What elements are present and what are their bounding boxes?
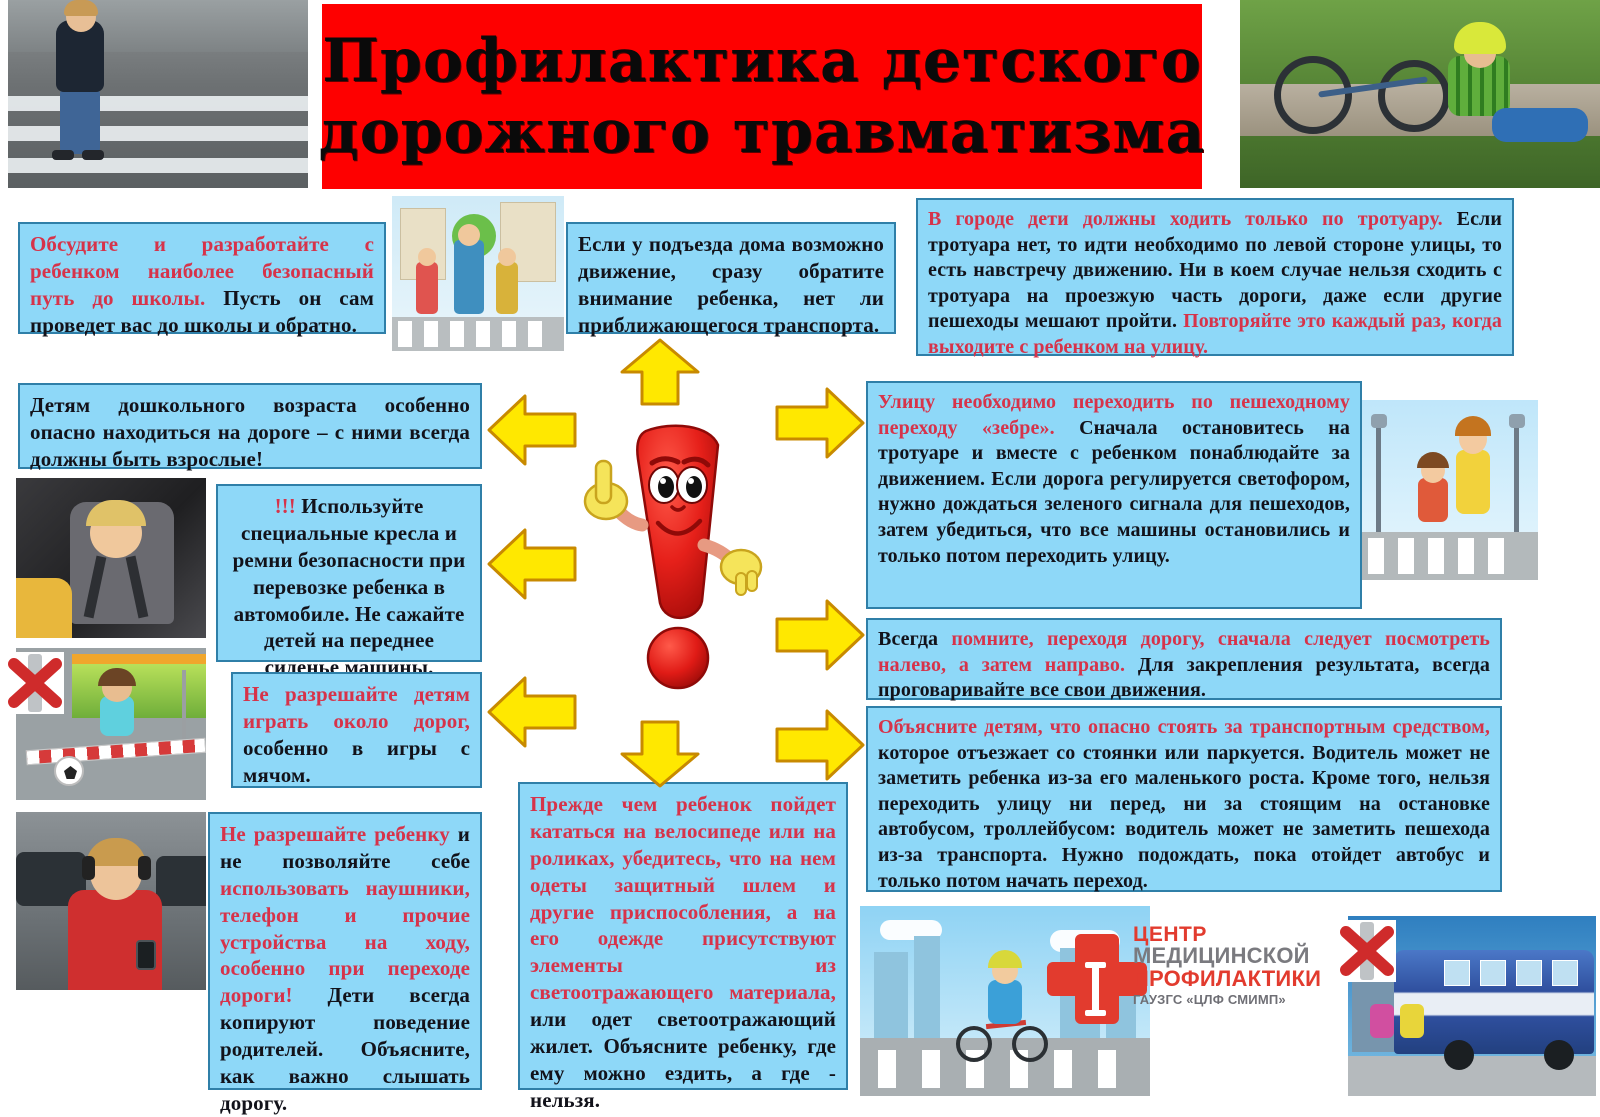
logo-line-4: ГАУЗГС «ЦЛФ СМИМП»	[1133, 993, 1308, 1006]
infobox-school-route: Обсудите и разработайте с ребенком наибо…	[18, 222, 386, 334]
infobox-no-play: Не разрешайте детям играть около дорог, …	[231, 672, 482, 788]
infobox-behind-vehicle-red: Объясните детям, что опасно стоять за тр…	[878, 716, 1490, 738]
arrow-right-icon-behind	[775, 708, 865, 782]
infobox-look-both-ways: Всегда помните, переходя дорогу, сначала…	[866, 618, 1502, 700]
infobox-behind-vehicle-black: которое отъезжает со стоянки или паркует…	[878, 742, 1490, 892]
infobox-car-seat: !!! Используйте специальные кресла и рем…	[216, 484, 482, 662]
photo-grandma-kids	[392, 196, 564, 351]
arrow-up-icon	[620, 338, 700, 406]
infobox-sidewalk-red1: В городе дети должны ходить только по тр…	[928, 208, 1443, 230]
infobox-crosswalk: Улицу необходимо переходить по пешеходно…	[866, 381, 1362, 609]
red-x-forbidden-icon-play	[6, 652, 64, 714]
infobox-look-both-black1: Всегда	[878, 628, 951, 650]
infobox-entrance-traffic-text: Если у подъезда дома возможно движение, …	[578, 232, 884, 337]
exclamation-mascot-icon	[560, 415, 790, 705]
page-title-line1: Профилактика детского	[322, 26, 1202, 97]
photo-boy-crosswalk	[8, 0, 308, 188]
infobox-headphones-red1: Не разрешайте ребенку	[220, 822, 450, 846]
poster-root: Профилактика детского дорожного травмати…	[0, 0, 1600, 1102]
photo-headphones-boy	[16, 812, 206, 990]
red-x-forbidden-icon-bus	[1338, 920, 1396, 982]
infobox-bike-gear-black: или одет светоотражающий жилет. Объяснит…	[530, 1007, 836, 1112]
infobox-no-play-black: особенно в игры с мячом.	[243, 736, 470, 787]
infobox-entrance-traffic: Если у подъезда дома возможно движение, …	[566, 222, 896, 334]
infobox-bike-gear-red: Прежде чем ребенок пойдет кататься на ве…	[530, 792, 836, 1004]
photo-bike-fall	[1240, 0, 1600, 188]
infobox-no-play-red: Не разрешайте детям играть около дорог,	[243, 682, 470, 733]
infobox-bike-gear: Прежде чем ребенок пойдет кататься на ве…	[518, 782, 848, 1090]
page-title-line2: дорожного травматизма	[319, 97, 1206, 168]
infobox-behind-vehicle: Объясните детям, что опасно стоять за тр…	[866, 706, 1502, 892]
photo-girl-boy-crossing	[1358, 400, 1538, 580]
photo-car-seat	[16, 478, 206, 638]
poster-title-banner: Профилактика детского дорожного травмати…	[322, 4, 1202, 189]
logo-line-2: МЕДИЦИНСКОЙ	[1133, 945, 1308, 967]
infobox-preschool-text: Детям дошкольного возраста особенно опас…	[30, 393, 470, 471]
infobox-sidewalk: В городе дети должны ходить только по тр…	[916, 198, 1514, 356]
logo-line-3: ПРОФИЛАКТИКИ	[1133, 968, 1308, 990]
infobox-car-seat-black: Используйте специальные кресла и ремни б…	[233, 494, 466, 679]
infobox-headphones: Не разрешайте ребенку и не позволяйте се…	[208, 812, 482, 1090]
logo-line-1: ЦЕНТР	[1133, 924, 1308, 945]
arrow-down-icon	[620, 720, 700, 788]
infobox-crosswalk-black: Сначала остановитесь на тротуаре и вмест…	[878, 417, 1350, 567]
infobox-preschool: Детям дошкольного возраста особенно опас…	[18, 383, 482, 469]
organization-logo: ЦЕНТР МЕДИЦИНСКОЙ ПРОФИЛАКТИКИ ГАУЗГС «Ц…	[1045, 918, 1295, 1038]
infobox-car-seat-red: !!!	[275, 494, 296, 518]
